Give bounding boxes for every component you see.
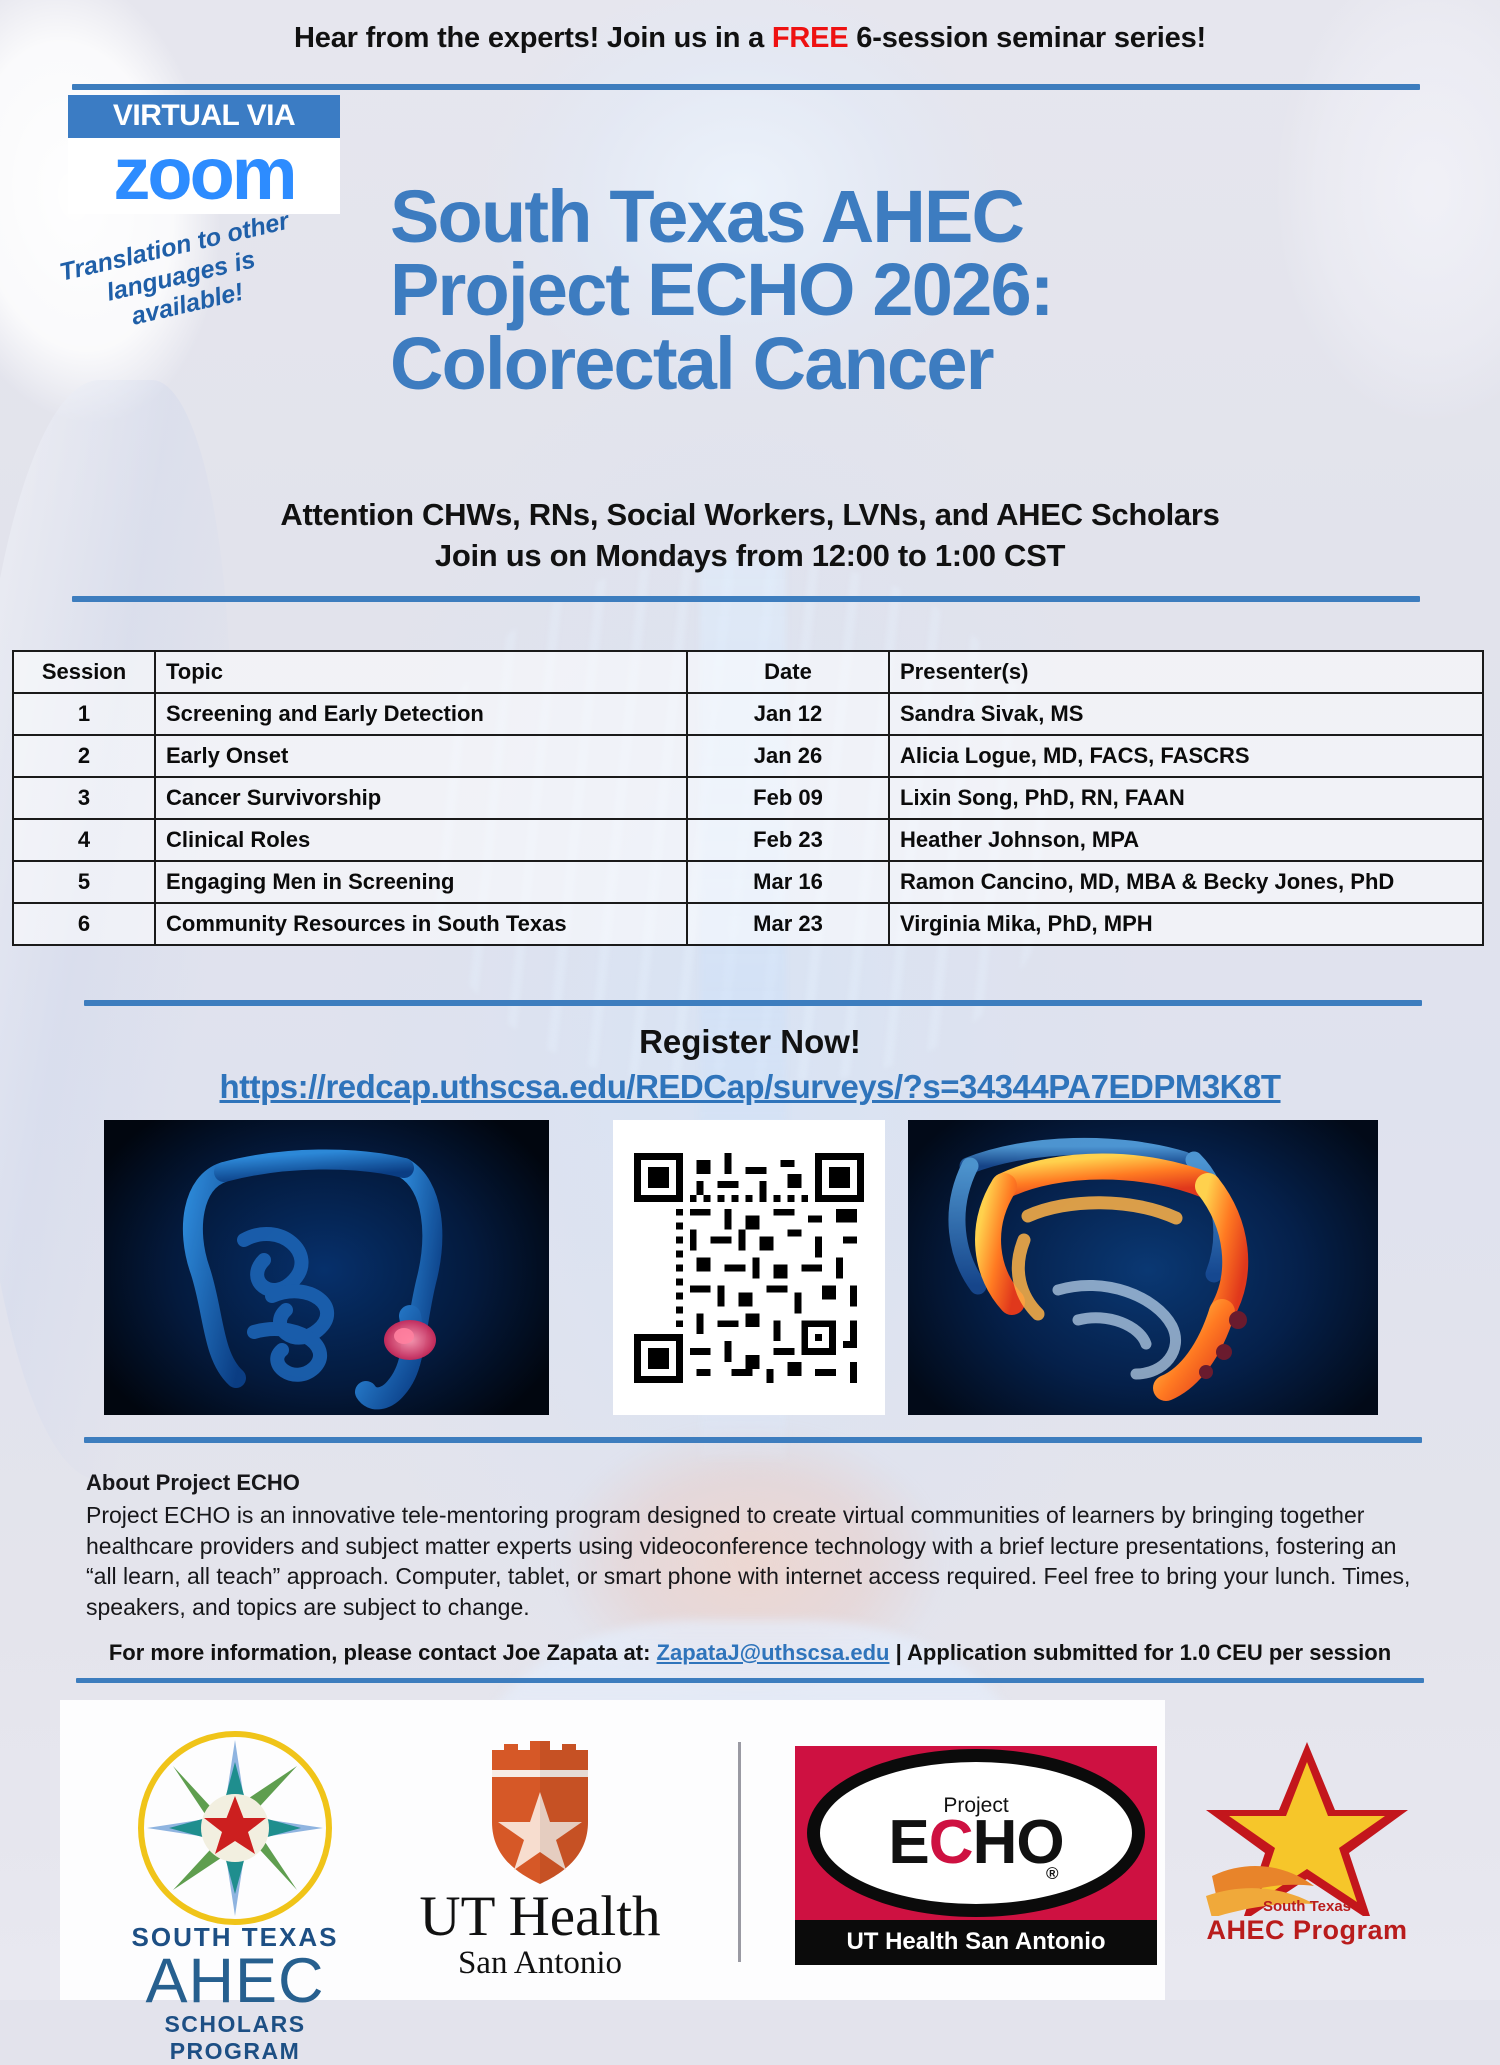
echo-wordmark: ECHO® — [888, 1814, 1063, 1871]
col-date: Date — [687, 651, 889, 693]
south-texas-ahec-program-logo: South Texas AHEC Program — [1192, 1736, 1422, 1946]
table-row: 6 Community Resources in South Texas Mar… — [13, 903, 1483, 945]
cell-date: Feb 09 — [687, 777, 889, 819]
footer-logos: SOUTH TEXAS AHEC SCHOLARS PROGRAM UT Hea… — [0, 1700, 1500, 2000]
colon-illustration-orange — [908, 1120, 1378, 1415]
cell-session: 6 — [13, 903, 155, 945]
cell-presenter: Sandra Sivak, MS — [889, 693, 1483, 735]
title-line-3: Colorectal Cancer — [390, 327, 1400, 400]
cell-presenter: Ramon Cancino, MD, MBA & Becky Jones, Ph… — [889, 861, 1483, 903]
cell-session: 1 — [13, 693, 155, 735]
register-heading: Register Now! — [0, 1023, 1500, 1061]
ut-health-san-antonio-logo: UT Health San Antonio — [390, 1736, 690, 1981]
zoom-badge: VIRTUAL VIA zoom — [68, 95, 340, 214]
divider-audience — [72, 596, 1420, 602]
cell-presenter: Virginia Mika, PhD, MPH — [889, 903, 1483, 945]
cell-presenter: Lixin Song, PhD, RN, FAAN — [889, 777, 1483, 819]
cell-topic: Engaging Men in Screening — [155, 861, 687, 903]
cell-date: Jan 26 — [687, 735, 889, 777]
star-logo-line-2: AHEC Program — [1192, 1915, 1422, 1946]
tagline-before: Hear from the experts! Join us in a — [294, 22, 772, 54]
project-echo-logo: Project ECHO® UT Health San Antonio — [795, 1746, 1157, 1965]
divider-register — [84, 1000, 1422, 1006]
contact-email-link[interactable]: ZapataJ@uthscsa.edu — [657, 1640, 890, 1665]
table-row: 1 Screening and Early Detection Jan 12 S… — [13, 693, 1483, 735]
cell-presenter: Alicia Logue, MD, FACS, FASCRS — [889, 735, 1483, 777]
page-title: South Texas AHEC Project ECHO 2026: Colo… — [390, 180, 1400, 400]
table-row: 5 Engaging Men in Screening Mar 16 Ramon… — [13, 861, 1483, 903]
divider-images — [84, 1437, 1422, 1443]
colon-illustration-blue — [104, 1120, 549, 1415]
cell-date: Mar 23 — [687, 903, 889, 945]
table-row: 4 Clinical Roles Feb 23 Heather Johnson,… — [13, 819, 1483, 861]
about-heading: About Project ECHO — [86, 1470, 1426, 1496]
cell-topic: Early Onset — [155, 735, 687, 777]
about-section: About Project ECHO Project ECHO is an in… — [86, 1470, 1426, 1622]
echo-letter-e: E — [888, 1808, 928, 1877]
contact-line: For more information, please contact Joe… — [76, 1640, 1424, 1666]
ut-health-sub: San Antonio — [390, 1945, 690, 1981]
cell-topic: Clinical Roles — [155, 819, 687, 861]
table-row: 3 Cancer Survivorship Feb 09 Lixin Song,… — [13, 777, 1483, 819]
audience-line-1: Attention CHWs, RNs, Social Workers, LVN… — [60, 495, 1440, 536]
title-line-1: South Texas AHEC — [390, 180, 1400, 253]
contact-suffix: | Application submitted for 1.0 CEU per … — [889, 1640, 1391, 1665]
ahec-compass-star-icon — [135, 1728, 335, 1928]
cell-date: Mar 16 — [687, 861, 889, 903]
red-star-icon — [1202, 1736, 1412, 1916]
cell-topic: Community Resources in South Texas — [155, 903, 687, 945]
divider-top — [72, 84, 1420, 90]
cell-session: 2 — [13, 735, 155, 777]
echo-oval: Project ECHO® — [807, 1749, 1145, 1917]
registered-trademark-icon: ® — [1046, 1866, 1058, 1882]
translation-note: Translation to other languages is availa… — [49, 205, 313, 347]
ahec-line-3: SCHOLARS PROGRAM — [110, 2011, 360, 2065]
echo-footer-label: UT Health San Antonio — [795, 1920, 1157, 1965]
cell-session: 4 — [13, 819, 155, 861]
about-body: Project ECHO is an innovative tele-mento… — [86, 1500, 1426, 1622]
cell-presenter: Heather Johnson, MPA — [889, 819, 1483, 861]
cell-date: Feb 23 — [687, 819, 889, 861]
south-texas-ahec-scholars-logo: SOUTH TEXAS AHEC SCHOLARS PROGRAM — [110, 1728, 360, 2065]
table-header-row: Session Topic Date Presenter(s) — [13, 651, 1483, 693]
cell-session: 5 — [13, 861, 155, 903]
cell-topic: Screening and Early Detection — [155, 693, 687, 735]
image-row — [0, 1120, 1500, 1420]
ahec-line-2: AHEC — [110, 1953, 360, 2011]
schedule-table-wrap: Session Topic Date Presenter(s) 1 Screen… — [12, 650, 1484, 946]
tagline: Hear from the experts! Join us in a FREE… — [0, 22, 1500, 55]
divider-contact — [76, 1678, 1424, 1683]
cell-date: Jan 12 — [687, 693, 889, 735]
audience-block: Attention CHWs, RNs, Social Workers, LVN… — [60, 495, 1440, 577]
register-url[interactable]: https://redcap.uthscsa.edu/REDCap/survey… — [0, 1068, 1500, 1106]
echo-red-panel: Project ECHO® — [795, 1746, 1157, 1920]
col-presenter: Presenter(s) — [889, 651, 1483, 693]
footer-divider — [738, 1742, 741, 1962]
ut-shield-icon — [484, 1736, 596, 1886]
col-topic: Topic — [155, 651, 687, 693]
qr-code-container[interactable] — [613, 1120, 885, 1415]
zoom-logo: zoom — [68, 138, 340, 214]
tagline-free: FREE — [772, 22, 849, 54]
cell-session: 3 — [13, 777, 155, 819]
audience-line-2: Join us on Mondays from 12:00 to 1:00 CS… — [60, 536, 1440, 577]
tagline-after: 6-session seminar series! — [848, 22, 1206, 54]
qr-code[interactable] — [634, 1153, 864, 1383]
schedule-table: Session Topic Date Presenter(s) 1 Screen… — [12, 650, 1484, 946]
title-line-2: Project ECHO 2026: — [390, 253, 1400, 326]
flyer-page: Hear from the experts! Join us in a FREE… — [0, 0, 1500, 2000]
cell-topic: Cancer Survivorship — [155, 777, 687, 819]
colon-anatomy-image-left — [104, 1120, 549, 1415]
colon-anatomy-image-right — [908, 1120, 1378, 1415]
table-row: 2 Early Onset Jan 26 Alicia Logue, MD, F… — [13, 735, 1483, 777]
ut-health-name: UT Health — [390, 1888, 690, 1945]
col-session: Session — [13, 651, 155, 693]
echo-letter-c: C — [929, 1808, 973, 1877]
contact-prefix: For more information, please contact Joe… — [109, 1640, 657, 1665]
